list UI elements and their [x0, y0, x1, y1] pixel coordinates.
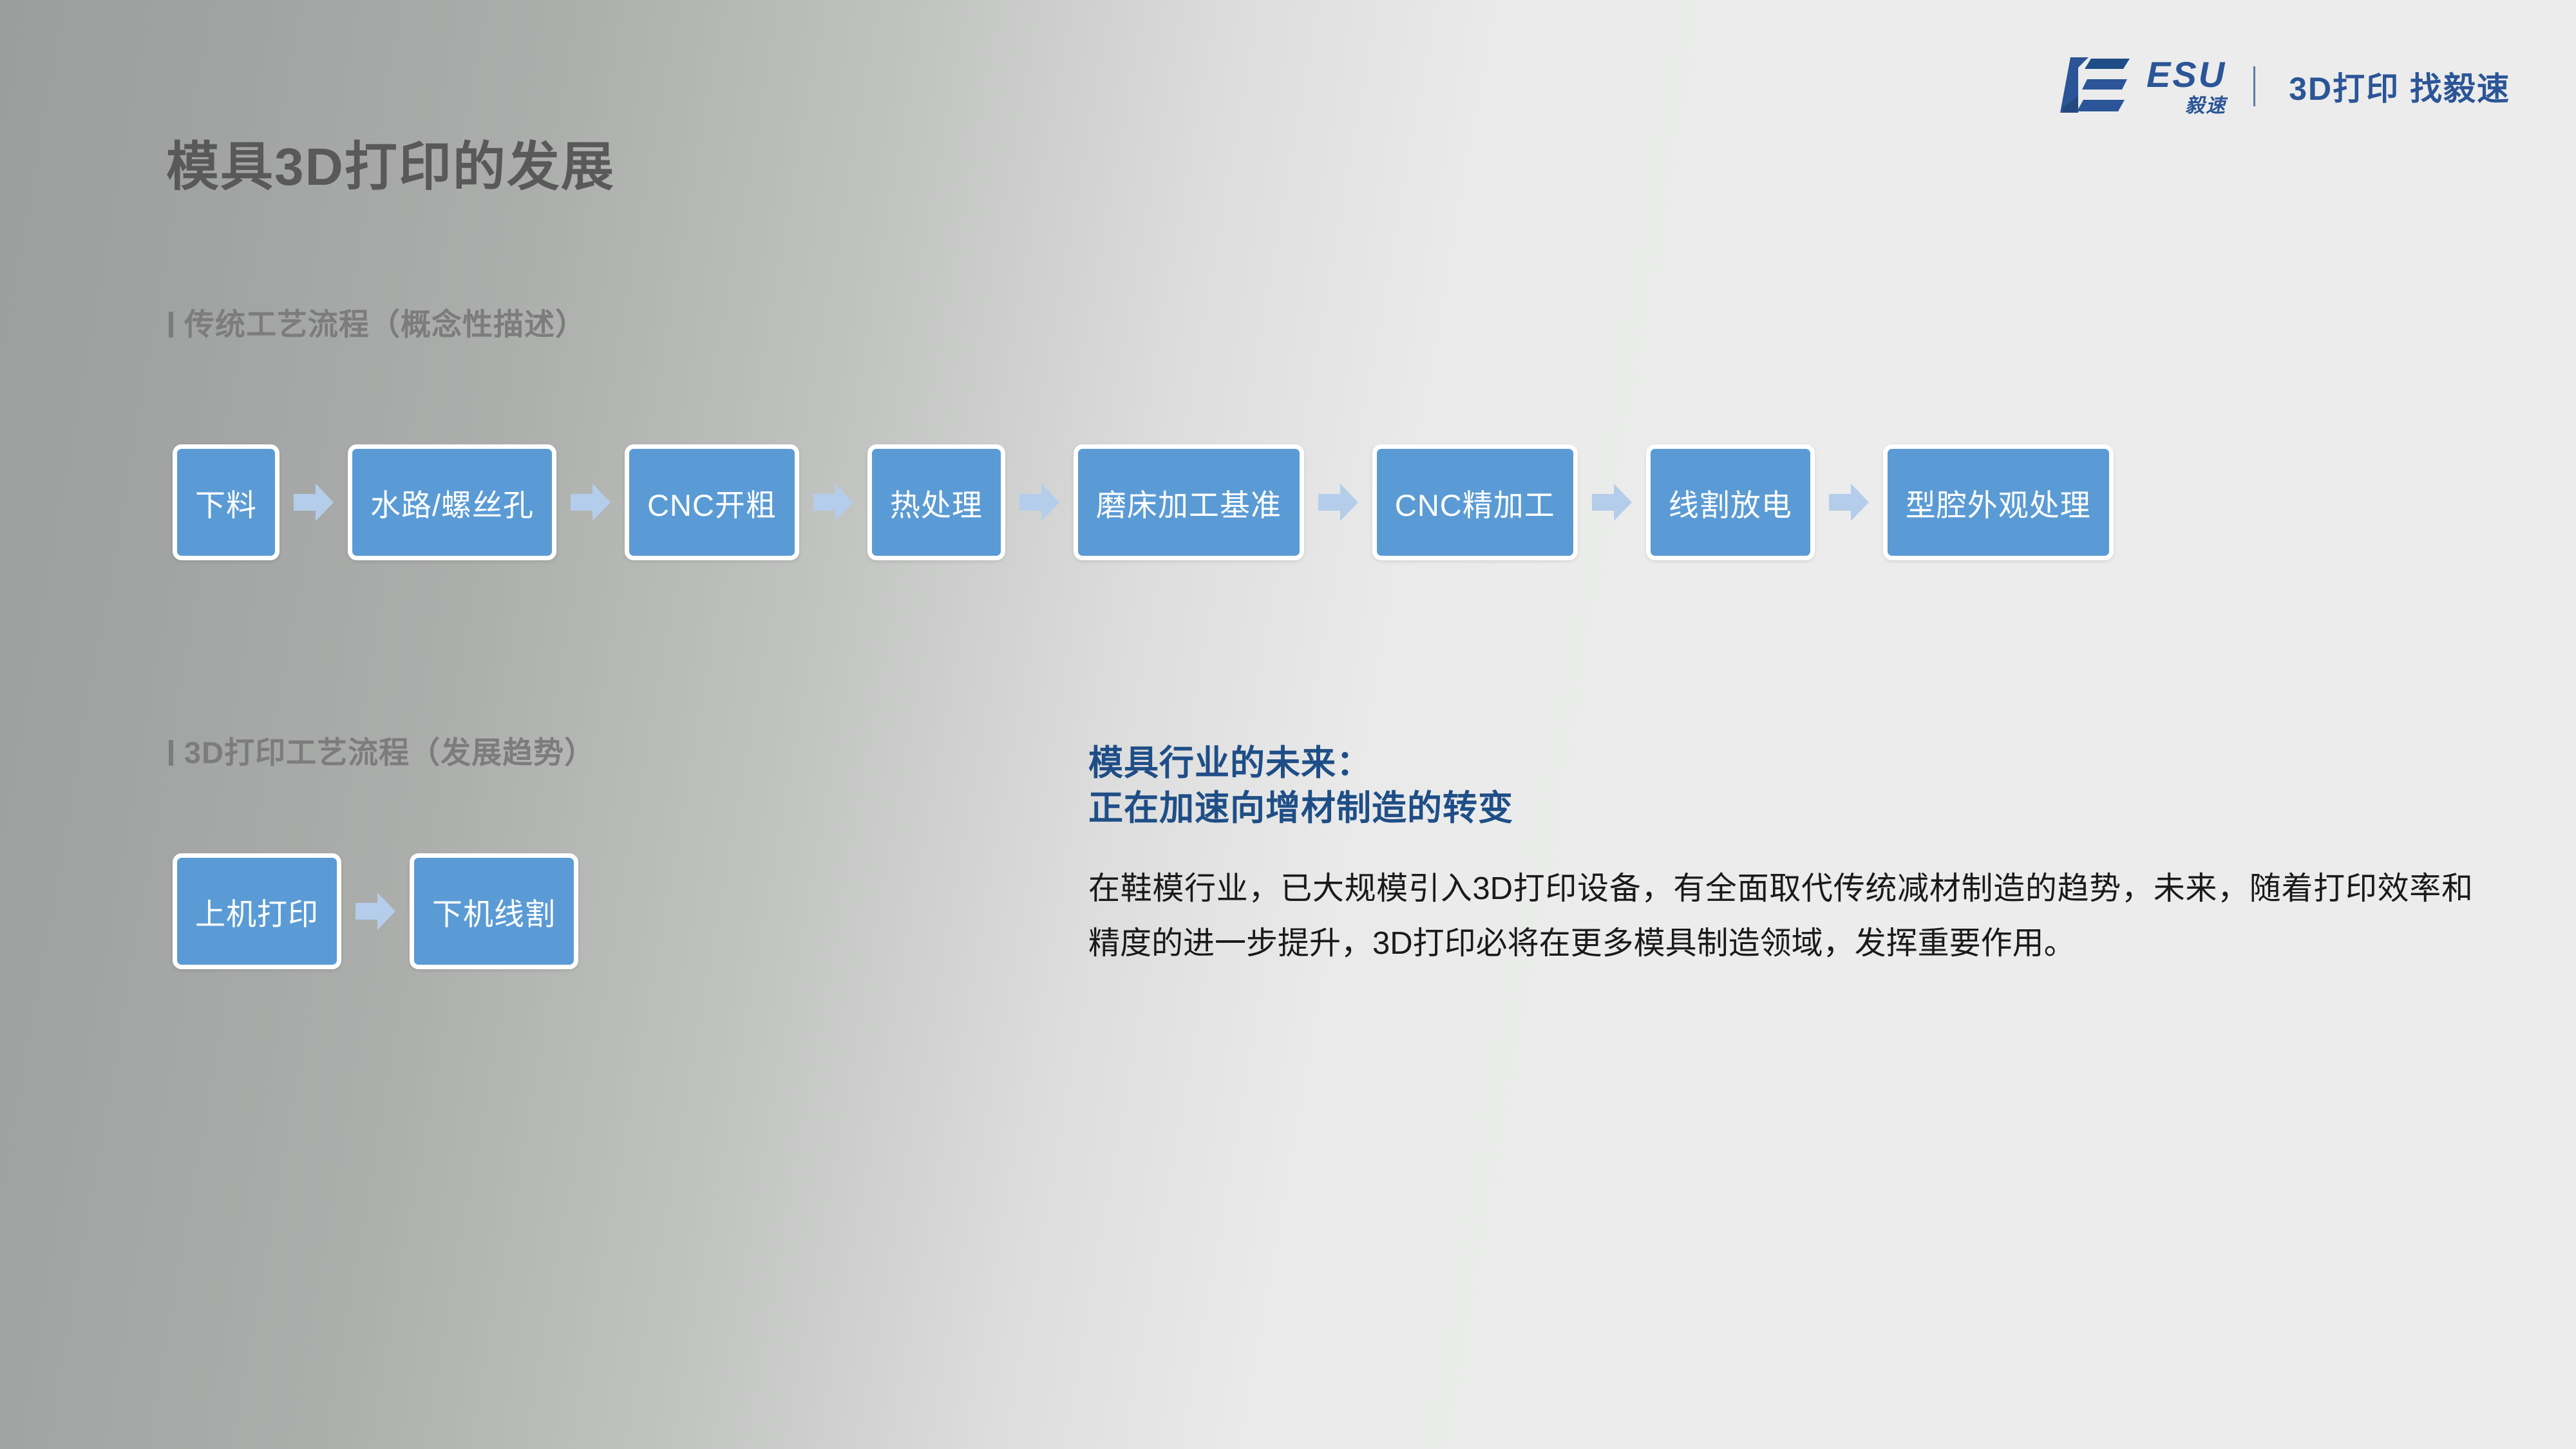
- logo-slogan: 3D打印 找毅速: [2289, 63, 2510, 109]
- logo-latin-text: ESU: [2146, 57, 2226, 93]
- right-arrow-icon: [294, 484, 334, 521]
- flow-step-label: 下机线割: [432, 889, 556, 934]
- section-heading-traditional: 传统工艺流程（概念性描述）: [169, 299, 586, 344]
- flow-step-box[interactable]: 型腔外观处理: [1883, 444, 2114, 560]
- right-arrow-icon: [1019, 484, 1059, 521]
- right-arrow-icon: [355, 893, 395, 930]
- process-flow-traditional: 下料 水路/螺丝孔 CNC开粗 热处理 磨床加工基准 CNC精加工 线割放电 型…: [173, 444, 2114, 560]
- flow-step-label: 磨床加工基准: [1096, 480, 1282, 525]
- page-title: 模具3D打印的发展: [166, 124, 615, 200]
- right-arrow-icon: [1318, 484, 1358, 521]
- flow-step-label: 热处理: [890, 480, 983, 525]
- callout-body: 在鞋模行业，已大规模引入3D打印设备，有全面取代传统减材制造的趋势，未来，随着打…: [1088, 862, 2473, 971]
- flow-step-box[interactable]: 热处理: [867, 444, 1005, 560]
- section-heading-traditional-label: 传统工艺流程（概念性描述）: [184, 307, 586, 341]
- callout-heading: 模具行业的未来： 正在加速向增材制造的转变: [1088, 741, 2492, 831]
- flow-step-box[interactable]: CNC开粗: [625, 444, 799, 560]
- flow-step-box[interactable]: CNC精加工: [1372, 444, 1578, 560]
- process-flow-additive: 上机打印 下机线割: [173, 853, 578, 969]
- flow-step-label: CNC精加工: [1395, 480, 1555, 525]
- brand-logo: ESU 毅速 3D打印 找毅速: [2056, 57, 2510, 116]
- vertical-bar-icon: [169, 312, 173, 337]
- flow-step-label: 下料: [195, 480, 257, 525]
- flow-step-label: 上机打印: [195, 889, 319, 934]
- section-heading-additive-label: 3D打印工艺流程（发展趋势）: [184, 735, 595, 770]
- callout-heading-line2: 正在加速向增材制造的转变: [1088, 786, 2492, 831]
- flow-step-label: 水路/螺丝孔: [370, 480, 534, 525]
- esu-e-mark-icon: [2056, 57, 2132, 116]
- flow-step-box[interactable]: 下料: [173, 444, 279, 560]
- right-arrow-icon: [1592, 484, 1632, 521]
- flow-step-label: CNC开粗: [647, 480, 777, 525]
- callout-heading-line1: 模具行业的未来：: [1088, 741, 2492, 786]
- right-arrow-icon: [813, 484, 853, 521]
- right-arrow-icon: [1829, 484, 1869, 521]
- vertical-divider-icon: [2253, 66, 2255, 106]
- flow-step-label: 线割放电: [1669, 480, 1792, 525]
- section-heading-additive: 3D打印工艺流程（发展趋势）: [169, 728, 595, 772]
- flow-step-label: 型腔外观处理: [1906, 480, 2091, 525]
- logo-chinese-text: 毅速: [2146, 97, 2226, 116]
- flow-step-box[interactable]: 上机打印: [173, 853, 341, 969]
- callout-block: 模具行业的未来： 正在加速向增材制造的转变 在鞋模行业，已大规模引入3D打印设备…: [1088, 741, 2492, 971]
- vertical-bar-icon: [169, 740, 173, 766]
- logo-wordmark: ESU 毅速: [2146, 57, 2226, 116]
- flow-step-box[interactable]: 磨床加工基准: [1074, 444, 1304, 560]
- flow-step-box[interactable]: 线割放电: [1646, 444, 1815, 560]
- right-arrow-icon: [571, 484, 611, 521]
- flow-step-box[interactable]: 水路/螺丝孔: [348, 444, 556, 560]
- flow-step-box[interactable]: 下机线割: [410, 853, 578, 969]
